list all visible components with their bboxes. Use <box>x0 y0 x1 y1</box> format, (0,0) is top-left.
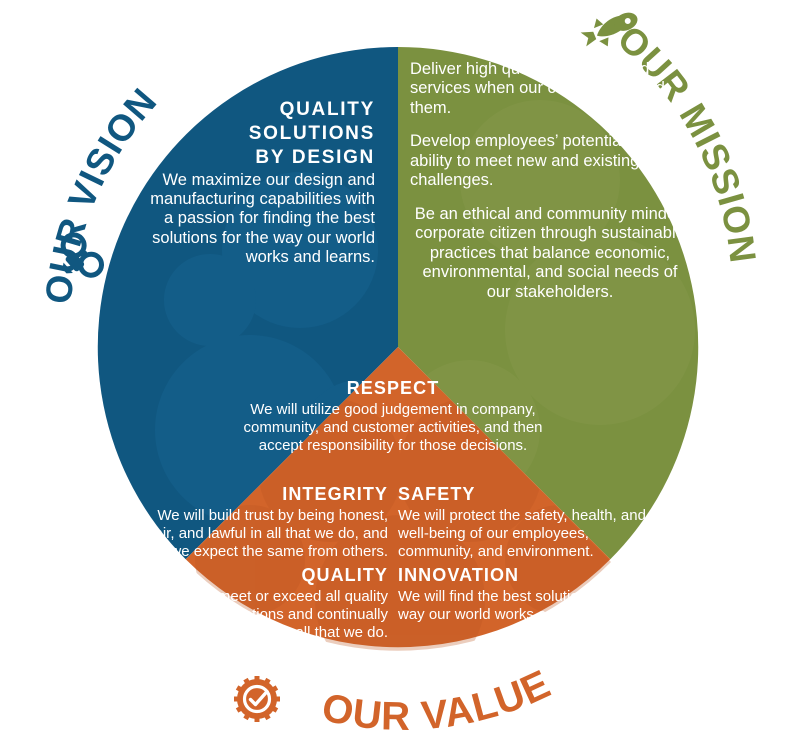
mission-paragraph-3: Be an ethical and community minded corpo… <box>410 205 690 302</box>
value-safety-body: We will protect the safety, health, and … <box>398 507 648 560</box>
value-integrity-heading: INTEGRITY <box>143 484 388 505</box>
vision-heading-line-2: SOLUTIONS <box>150 122 375 145</box>
vision-mission-values-diagram: OUR VISION OUR MISSION OUR VALUES <box>0 0 795 737</box>
mission-paragraph-1: Deliver high quality products and servic… <box>410 60 690 118</box>
value-quality-heading: QUALITY <box>143 565 388 586</box>
value-integrity: INTEGRITY We will build trust by being h… <box>143 484 388 560</box>
vision-heading-line-1: QUALITY <box>150 98 375 121</box>
value-safety-heading: SAFETY <box>398 484 648 505</box>
vision-heading-line-3: BY DESIGN <box>150 146 375 169</box>
value-innovation-body: We will find the best solutions for the … <box>398 588 648 623</box>
mission-text-block: Deliver high quality products and servic… <box>410 60 690 302</box>
value-quality: QUALITY We will meet or exceed all quali… <box>143 565 388 641</box>
check-badge-icon <box>226 668 289 731</box>
value-quality-body: We will meet or exceed all quality expec… <box>143 588 388 641</box>
value-safety: SAFETY We will protect the safety, healt… <box>398 484 648 560</box>
value-respect-body: We will utilize good judgement in compan… <box>243 401 543 454</box>
value-respect-heading: RESPECT <box>243 378 543 399</box>
value-innovation-heading: INNOVATION <box>398 565 648 586</box>
value-innovation: INNOVATION We will find the best solutio… <box>398 565 648 624</box>
vision-text-block: QUALITY SOLUTIONS BY DESIGN We maximize … <box>150 98 375 268</box>
vision-body: We maximize our design and manufacturing… <box>150 171 375 268</box>
value-respect: RESPECT We will utilize good judgement i… <box>243 378 543 454</box>
value-integrity-body: We will build trust by being honest, fai… <box>143 507 388 560</box>
mission-paragraph-2: Develop employees’ potential and ability… <box>410 132 690 190</box>
